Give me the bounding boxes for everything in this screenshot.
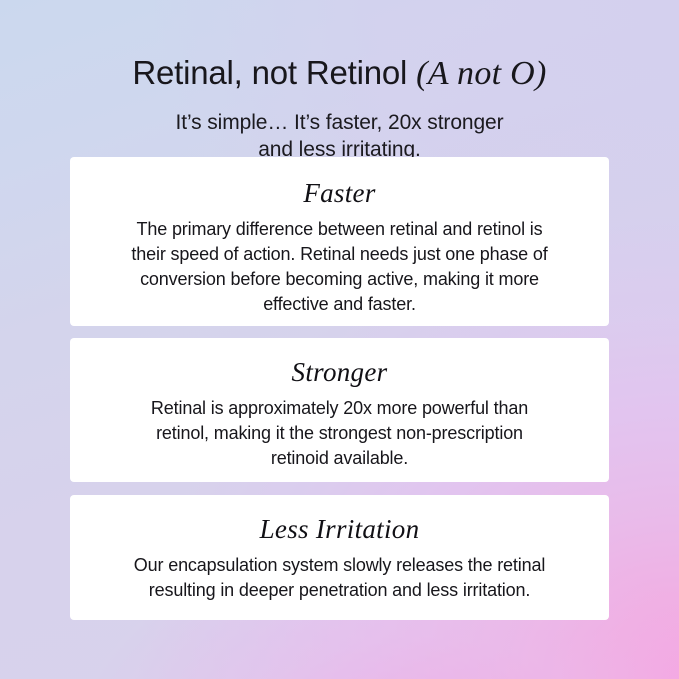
benefit-card-heading: Faster bbox=[86, 157, 593, 209]
benefit-card-body-line-3: conversion before becoming active, makin… bbox=[86, 267, 593, 292]
page-subtitle: It’s simple… It’s faster, 20x stronger a… bbox=[0, 109, 679, 163]
page-subtitle-line-1: It’s simple… It’s faster, 20x stronger bbox=[0, 109, 679, 136]
benefit-card-less-irritation: Less Irritation Our encapsulation system… bbox=[70, 495, 609, 620]
content-container: Retinal, not Retinol (A not O) It’s simp… bbox=[0, 0, 679, 679]
benefit-card-body-line-2: retinol, making it the strongest non-pre… bbox=[86, 421, 593, 446]
page-title-accent: (A not O) bbox=[416, 55, 547, 92]
infographic-canvas: Retinal, not Retinol (A not O) It’s simp… bbox=[0, 0, 679, 679]
benefit-card-body: Our encapsulation system slowly releases… bbox=[86, 545, 593, 603]
benefit-card-heading: Stronger bbox=[86, 338, 593, 388]
benefit-card-stronger: Stronger Retinal is approximately 20x mo… bbox=[70, 338, 609, 482]
benefit-card-body-line-2: resulting in deeper penetration and less… bbox=[86, 578, 593, 603]
benefit-card-faster: Faster The primary difference between re… bbox=[70, 157, 609, 326]
page-title: Retinal, not Retinol (A not O) bbox=[0, 54, 679, 93]
benefit-card-body: Retinal is approximately 20x more powerf… bbox=[86, 388, 593, 471]
benefit-card-heading: Less Irritation bbox=[86, 495, 593, 545]
page-title-main: Retinal, not Retinol bbox=[132, 54, 416, 91]
benefit-card-body-line-1: Retinal is approximately 20x more powerf… bbox=[86, 396, 593, 421]
benefit-card-body-line-2: their speed of action. Retinal needs jus… bbox=[86, 242, 593, 267]
benefit-card-body-line-1: Our encapsulation system slowly releases… bbox=[86, 553, 593, 578]
benefit-card-body-line-4: effective and faster. bbox=[86, 292, 593, 317]
benefit-card-body-line-3: retinoid available. bbox=[86, 446, 593, 471]
benefit-card-body-line-1: The primary difference between retinal a… bbox=[86, 217, 593, 242]
benefit-card-body: The primary difference between retinal a… bbox=[86, 209, 593, 317]
